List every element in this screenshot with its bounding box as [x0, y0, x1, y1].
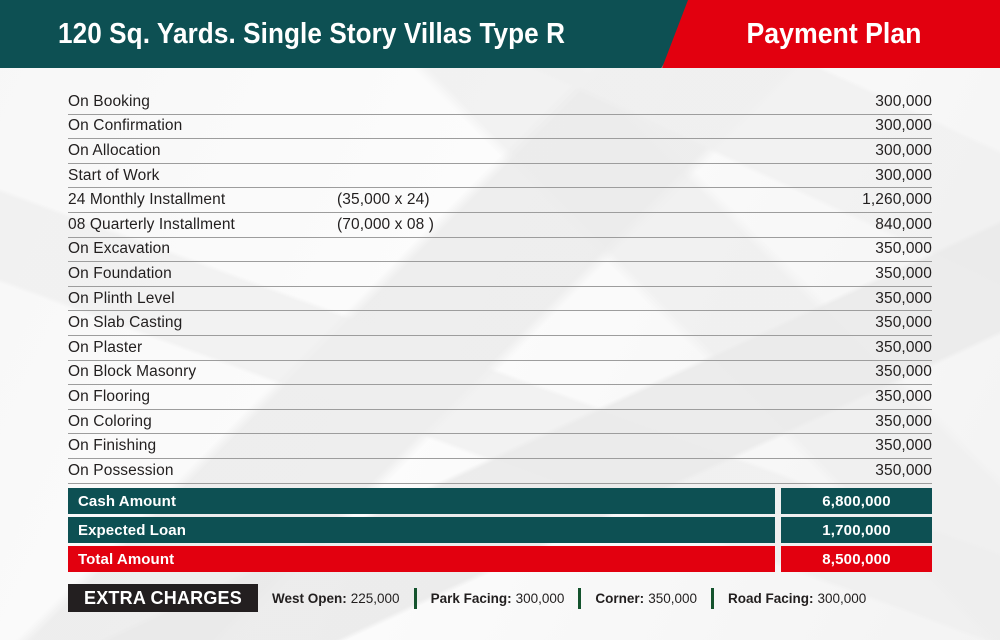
milestone-label: On Possession [68, 462, 337, 480]
summary-value: 8,500,000 [781, 546, 932, 572]
summary-row: Cash Amount6,800,000 [68, 488, 932, 514]
milestone-amount: 350,000 [875, 265, 932, 283]
milestone-label: On Foundation [68, 265, 337, 283]
milestone-amount: 350,000 [875, 363, 932, 381]
summary-value: 1,700,000 [781, 517, 932, 543]
milestone-amount: 840,000 [875, 216, 932, 234]
table-row: On Flooring350,000 [68, 385, 932, 410]
extra-charge-value: 300,000 [818, 591, 867, 606]
summary-row: Expected Loan1,700,000 [68, 517, 932, 543]
milestone-note: (35,000 x 24) [337, 191, 862, 209]
extra-charges-badge: EXTRA CHARGES [68, 584, 258, 612]
summary-label: Total Amount [68, 546, 775, 572]
extra-charges-bar: EXTRA CHARGES West Open:225,000Park Faci… [68, 584, 880, 612]
extra-charge-value: 225,000 [351, 591, 400, 606]
milestone-amount: 300,000 [875, 117, 932, 135]
milestone-amount: 350,000 [875, 462, 932, 480]
extra-charge-value: 300,000 [516, 591, 565, 606]
table-row: On Plaster350,000 [68, 336, 932, 361]
milestone-label: On Plaster [68, 339, 337, 357]
table-row: On Slab Casting350,000 [68, 311, 932, 336]
table-row: On Foundation350,000 [68, 262, 932, 287]
milestone-amount: 350,000 [875, 388, 932, 406]
summary-totals: Cash Amount6,800,000Expected Loan1,700,0… [68, 488, 932, 572]
extra-charges-items: West Open:225,000Park Facing:300,000Corn… [258, 588, 880, 609]
table-row: On Plinth Level350,000 [68, 287, 932, 312]
table-row: On Finishing350,000 [68, 434, 932, 459]
milestone-amount: 350,000 [875, 339, 932, 357]
payment-schedule-table: On Booking300,000On Confirmation300,000O… [68, 90, 932, 484]
milestone-label: On Finishing [68, 437, 337, 455]
table-row: On Booking300,000 [68, 90, 932, 115]
extra-charge-key: Road Facing: [728, 591, 814, 606]
extra-charge-key: Park Facing: [431, 591, 512, 606]
milestone-label: On Allocation [68, 142, 337, 160]
milestone-label: On Flooring [68, 388, 337, 406]
milestone-amount: 350,000 [875, 437, 932, 455]
table-row: On Block Masonry350,000 [68, 361, 932, 386]
page-title: 120 Sq. Yards. Single Story Villas Type … [58, 0, 565, 68]
summary-label: Cash Amount [68, 488, 775, 514]
milestone-label: On Plinth Level [68, 290, 337, 308]
milestone-label: On Confirmation [68, 117, 337, 135]
milestone-amount: 1,260,000 [862, 191, 932, 209]
milestone-label: On Block Masonry [68, 363, 337, 381]
table-row: On Excavation350,000 [68, 238, 932, 263]
table-row: Start of Work300,000 [68, 164, 932, 189]
extra-charge-key: Corner: [595, 591, 644, 606]
milestone-label: 24 Monthly Installment [68, 191, 337, 209]
milestone-amount: 300,000 [875, 167, 932, 185]
page-subtitle: Payment Plan [681, 0, 986, 68]
milestone-label: On Coloring [68, 413, 337, 431]
extra-charge-value: 350,000 [648, 591, 697, 606]
table-row: 24 Monthly Installment(35,000 x 24)1,260… [68, 188, 932, 213]
milestone-amount: 350,000 [875, 413, 932, 431]
milestone-amount: 350,000 [875, 314, 932, 332]
milestone-amount: 300,000 [875, 93, 932, 111]
milestone-amount: 300,000 [875, 142, 932, 160]
milestone-label: On Booking [68, 93, 337, 111]
milestone-amount: 350,000 [875, 240, 932, 258]
table-row: On Allocation300,000 [68, 139, 932, 164]
extra-charge-item: West Open:225,000 [258, 591, 414, 606]
summary-row: Total Amount8,500,000 [68, 546, 932, 572]
summary-value: 6,800,000 [781, 488, 932, 514]
milestone-amount: 350,000 [875, 290, 932, 308]
milestone-label: 08 Quarterly Installment [68, 216, 337, 234]
extra-charge-key: West Open: [272, 591, 347, 606]
milestone-note: (70,000 x 08 ) [337, 216, 875, 234]
milestone-label: On Slab Casting [68, 314, 337, 332]
table-row: On Confirmation300,000 [68, 115, 932, 140]
table-row: On Possession350,000 [68, 459, 932, 484]
extra-charge-item: Road Facing:300,000 [714, 591, 880, 606]
extra-charge-item: Park Facing:300,000 [417, 591, 579, 606]
summary-label: Expected Loan [68, 517, 775, 543]
milestone-label: On Excavation [68, 240, 337, 258]
table-row: On Coloring350,000 [68, 410, 932, 435]
table-row: 08 Quarterly Installment(70,000 x 08 )84… [68, 213, 932, 238]
extra-charge-item: Corner:350,000 [581, 591, 711, 606]
page-header: 120 Sq. Yards. Single Story Villas Type … [0, 0, 1000, 68]
milestone-label: Start of Work [68, 167, 337, 185]
